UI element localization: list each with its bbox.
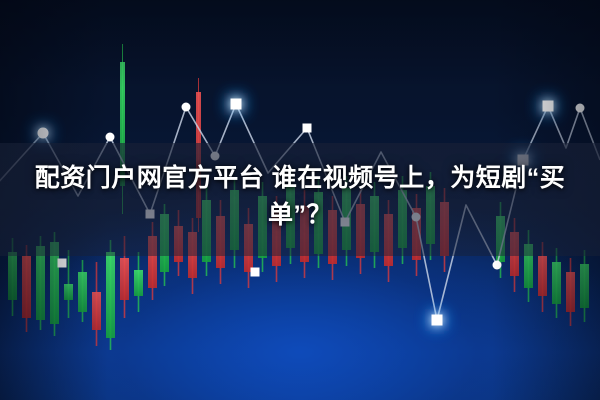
candle-body [580, 264, 589, 308]
trend-marker [58, 259, 67, 268]
trend-marker [303, 124, 312, 133]
candle-body [22, 256, 31, 318]
trend-marker [106, 133, 115, 142]
trend-marker [543, 101, 554, 112]
candle-body [120, 258, 129, 300]
candle-body [64, 284, 73, 300]
candle-body [538, 256, 547, 296]
candle-body [8, 252, 17, 300]
candle-body [134, 270, 143, 296]
candle-body [106, 252, 115, 338]
candle-body [92, 292, 101, 330]
stock-banner-image: 配资门户网官方平台 谁在视频号上，为短剧“买单”？ [0, 0, 600, 400]
candle-body [552, 262, 561, 304]
trend-marker [251, 268, 260, 277]
trend-marker [576, 104, 585, 113]
candle-body [36, 246, 45, 320]
trend-marker [38, 128, 49, 139]
trend-marker [493, 261, 502, 270]
candle-body [78, 272, 87, 312]
trend-marker [432, 315, 443, 326]
candle-body [566, 272, 575, 312]
page-title: 配资门户网官方平台 谁在视频号上，为短剧“买单”？ [0, 160, 600, 234]
trend-marker [231, 99, 242, 110]
trend-marker [182, 103, 191, 112]
